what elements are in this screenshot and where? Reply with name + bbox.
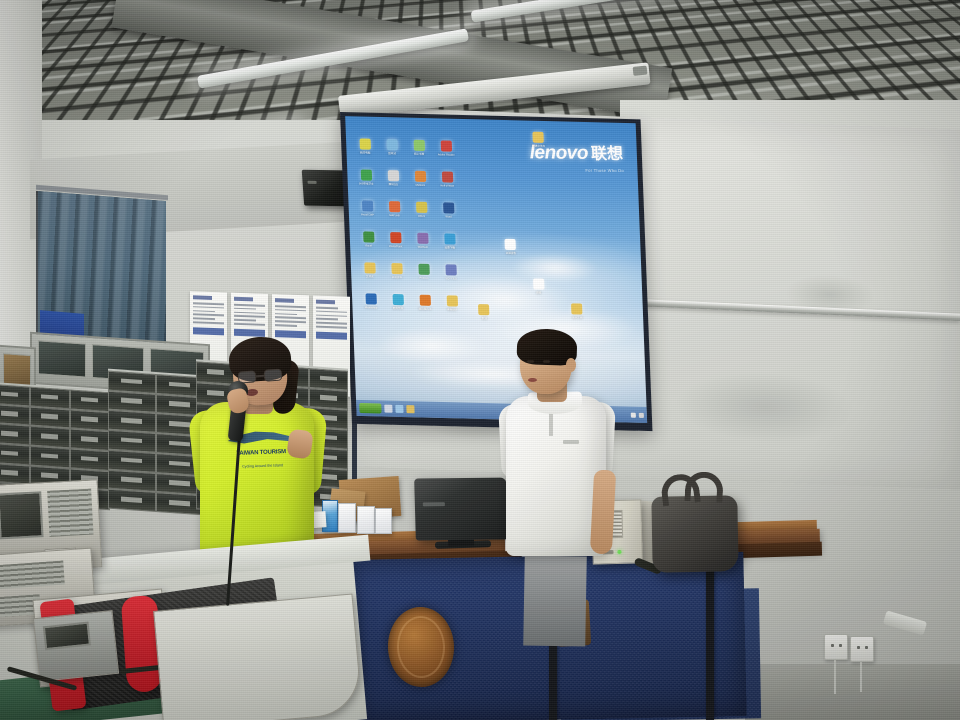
student-arm-right (590, 469, 616, 554)
eyeglass-bridge (256, 375, 264, 377)
desktop-icon-glyph (446, 295, 457, 306)
desktop-icon-label: WinRAR (410, 245, 435, 249)
desktop-icon[interactable]: 搜狗输入法 (412, 292, 438, 323)
desktop-icon[interactable]: 腾讯QQ (380, 168, 406, 199)
floor (745, 664, 960, 720)
lenovo-tagline: For Those Who Do (530, 167, 624, 173)
screen-roller-end-cap (633, 66, 648, 76)
desktop-icon-glyph (445, 264, 456, 275)
start-button[interactable] (359, 403, 381, 414)
desktop-icon-label: 网上邻居 (407, 153, 432, 157)
desktop-icon[interactable]: Adobe Reader (433, 138, 459, 169)
taskbar-icon[interactable] (384, 405, 392, 413)
desktop-icon[interactable]: Keil uVision (434, 169, 460, 200)
taskbar-icon[interactable] (406, 405, 414, 413)
desktop-icon-label: Proteus (411, 276, 436, 280)
desktop-icon[interactable]: Proteus (411, 261, 437, 292)
desktop-icon-glyph (386, 139, 397, 150)
desktop-icon[interactable]: 迅雷下载 (437, 231, 463, 262)
desktop-icon-glyph (419, 295, 430, 306)
tshirt-graphic-subtext: Cycling Around the Island (235, 463, 291, 469)
desktop-icon-glyph (533, 278, 544, 289)
desktop-icon-glyph (443, 202, 454, 213)
desktop-icon[interactable]: 课程设计 (439, 293, 465, 324)
taskbar-icon[interactable] (395, 405, 403, 413)
polo-chest-logo (563, 440, 579, 444)
desktop-icon[interactable]: VC++ 6.0 (438, 262, 464, 293)
desktop-icon[interactable]: 新建文件夹 (526, 130, 552, 161)
desktop-icon-label: Photoshop (358, 306, 383, 310)
student-legs (523, 555, 587, 646)
desk-leg (706, 566, 714, 720)
desktop-icon[interactable]: Protel DXP (354, 198, 380, 229)
desktop-icon-glyph (390, 232, 401, 243)
desktop-icon[interactable]: 实验报告 (498, 237, 524, 268)
product-box (357, 506, 375, 534)
power-outlet[interactable] (850, 636, 874, 662)
eyeglass-lens-right (264, 369, 283, 382)
desktop-icon[interactable]: WinRAR (410, 231, 436, 262)
desktop-icon-glyph (413, 140, 424, 151)
desktop-icon-label: 实验资料 (384, 276, 409, 280)
desktop-icon-glyph (571, 303, 582, 314)
desktop-icon-glyph (440, 140, 451, 151)
speaker-bracket (307, 181, 316, 184)
desktop-icon[interactable]: 实验资料 (384, 261, 410, 292)
desktop-icon[interactable]: PowerPoint (383, 230, 409, 261)
desktop-icon-label: 数据 (472, 317, 497, 321)
desktop-icon-label: 文件夹 (357, 275, 382, 279)
handbag[interactable] (651, 495, 738, 572)
desktop-icon-label: Protel DXP (355, 213, 380, 217)
handheld-meter (33, 610, 119, 682)
desktop-icon-label: Altium (409, 215, 434, 219)
desktop-icon-label: 迅雷下载 (437, 246, 462, 250)
student-mouth (528, 378, 537, 382)
desktop-icon[interactable]: MATLAB (381, 199, 407, 230)
desktop-icon-label: 演示文稿 (565, 316, 590, 320)
desktop-icon-glyph (478, 304, 489, 315)
student-eye (543, 360, 550, 363)
desktop-icon[interactable]: 网上邻居 (406, 138, 432, 169)
desktop-icon[interactable]: Excel (356, 229, 382, 260)
desktop-icon-label: 回收站 (380, 152, 405, 156)
desktop-icon-label: Excel (356, 244, 381, 248)
desktop-icon-label: 新建文件夹 (526, 145, 551, 149)
product-box (338, 503, 356, 533)
desktop-icon[interactable]: Altium (408, 200, 434, 231)
power-led-indicator (617, 550, 621, 554)
outlet-wire (834, 660, 836, 694)
desktop-icon-glyph (388, 201, 399, 212)
desktop-icon[interactable]: 讲稿 (525, 276, 551, 307)
desktop-icon[interactable]: 我的电脑 (352, 136, 378, 167)
desktop-icon-glyph (365, 293, 376, 304)
tray-icon[interactable] (639, 412, 644, 417)
projected-desktop[interactable]: lenovo联想 For Those Who Do 我的电脑回收站网上邻居Ado… (345, 116, 647, 423)
desktop-icon-glyph (387, 170, 398, 181)
desktop-icon-glyph (505, 239, 516, 250)
lab-bench-shelf (153, 594, 363, 720)
desktop-icon[interactable]: Photoshop (358, 291, 384, 322)
student-ear (566, 358, 576, 372)
power-outlet[interactable] (824, 634, 848, 660)
classroom-photo-scene: lenovo联想 For Those Who Do 我的电脑回收站网上邻居Ado… (0, 0, 960, 720)
desktop-icon-label: Adobe Reader (434, 153, 459, 157)
desktop-icon-glyph (361, 200, 372, 211)
desktop-icon[interactable]: 演示文稿 (564, 301, 590, 332)
desktop-icon-glyph (392, 294, 403, 305)
desktop-icon-glyph (441, 171, 452, 182)
desktop-icon-label: Multisim (408, 184, 433, 188)
desktop-icon-glyph (533, 132, 544, 143)
desktop-icon[interactable]: Word (435, 200, 461, 231)
student-eye (527, 360, 534, 363)
desktop-icon-label: 实验报告 (498, 252, 523, 256)
desktop-icon-label: 讲稿 (526, 291, 551, 295)
desktop-icon[interactable]: 数据 (471, 302, 497, 333)
lcd-monitor[interactable] (414, 478, 508, 541)
outlet-wire (860, 662, 862, 692)
wall-speaker (302, 170, 347, 207)
desktop-icon[interactable]: 文件夹 (357, 260, 383, 291)
desktop-icon-label: Word (436, 215, 461, 219)
desktop-icon[interactable]: 酷狗音乐 (385, 292, 411, 323)
screen-border: lenovo联想 For Those Who Do 我的电脑回收站网上邻居Ado… (340, 112, 652, 431)
monitor-brand-logo (423, 502, 445, 506)
desktop-icon-label: 腾讯QQ (381, 183, 406, 187)
tray-icon[interactable] (631, 412, 636, 417)
desktop-icon-glyph (363, 231, 374, 242)
desktop-icon-glyph (417, 233, 428, 244)
desktop-icon[interactable]: 360安全卫士 (353, 167, 379, 198)
desktop-icon-glyph (414, 171, 425, 182)
desktop-icon-glyph (444, 233, 455, 244)
desktop-icon-label: PowerPoint (383, 245, 408, 249)
desktop-icon-glyph (359, 138, 370, 149)
desktop-icon-glyph (391, 263, 402, 274)
desktop-icon[interactable]: Multisim (407, 169, 433, 200)
projection-screen[interactable]: lenovo联想 For Those Who Do 我的电脑回收站网上邻居Ado… (340, 112, 652, 431)
desktop-icon-label: MATLAB (382, 214, 407, 218)
desktop-icon-label: Keil uVision (435, 184, 460, 188)
desktop-icon-glyph (360, 169, 371, 180)
desktop-icon-label: 360安全卫士 (354, 182, 379, 186)
desktop-icon-glyph (364, 262, 375, 273)
desktop-icon-label: 课程设计 (440, 308, 465, 312)
desktop-icon-grid[interactable]: 我的电脑回收站网上邻居Adobe Reader360安全卫士腾讯QQMultis… (352, 136, 465, 323)
desktop-icon-label: 酷狗音乐 (386, 307, 411, 311)
desktop-icon[interactable]: 回收站 (379, 137, 405, 168)
desktop-icon-label: 我的电脑 (353, 151, 378, 155)
product-box (375, 508, 392, 534)
desktop-icon-label: 搜狗输入法 (413, 307, 438, 311)
desktop-icon-label: VC++ 6.0 (438, 277, 463, 281)
desktop-icon-glyph (418, 264, 429, 275)
lenovo-chinese-mark: 联想 (590, 146, 623, 163)
component-drawer-cabinet (108, 369, 204, 516)
desktop-icon-glyph (415, 202, 426, 213)
